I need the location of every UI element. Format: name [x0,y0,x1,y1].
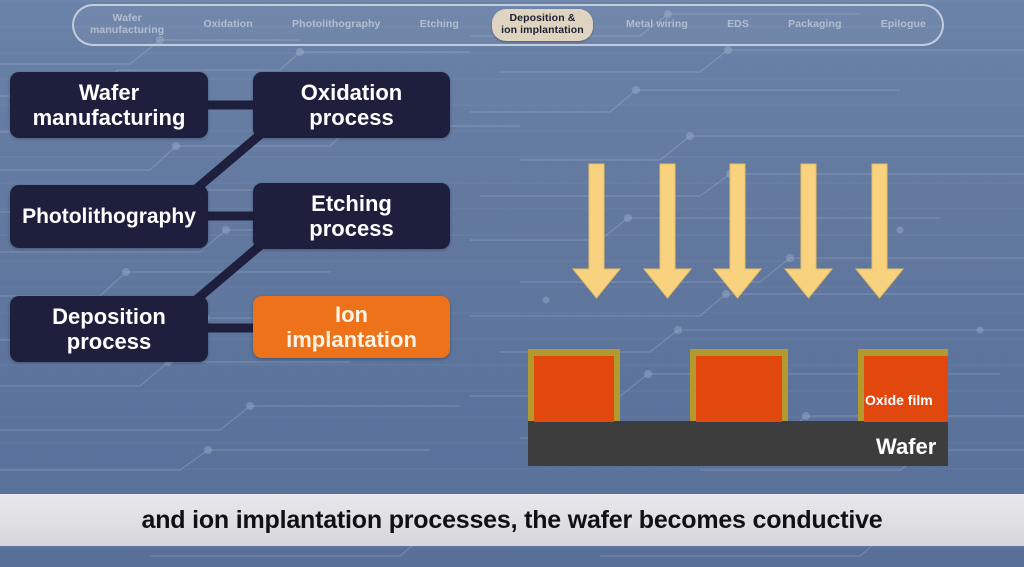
process-flowchart: Wafer manufacturing Oxidation process Ph… [0,0,470,400]
flow-node-deposition-process[interactable]: Deposition process [10,296,208,362]
oxide-block-3 [864,356,948,422]
nav-item-eds[interactable]: EDS [721,17,755,33]
flow-node-oxidation-process[interactable]: Oxidation process [253,72,450,138]
nav-item-metal-wiring[interactable]: Metal wiring [620,17,694,33]
ion-beam-arrows [573,164,903,298]
oxide-block-2 [696,356,782,422]
oxide-film-label: Oxide film [865,392,933,408]
ion-implantation-diagram: Oxide film Wafer [520,140,970,470]
flow-node-photolithography[interactable]: Photolithography [10,185,208,248]
slide-canvas: Wafer manufacturing Oxidation Photolitho… [0,0,1024,567]
subtitle-bar: and ion implantation processes, the wafe… [0,494,1024,546]
flow-node-etching-process[interactable]: Etching process [253,183,450,249]
oxide-block-1 [534,356,614,422]
nav-item-deposition-ion-implantation[interactable]: Deposition & ion implantation [492,9,593,41]
nav-item-epilogue[interactable]: Epilogue [875,17,932,33]
subtitle-text: and ion implantation processes, the wafe… [142,506,883,535]
nav-item-packaging[interactable]: Packaging [782,17,847,33]
wafer-label: Wafer [876,434,937,459]
flow-node-ion-implantation[interactable]: Ion implantation [253,296,450,358]
flow-node-wafer-manufacturing[interactable]: Wafer manufacturing [10,72,208,138]
